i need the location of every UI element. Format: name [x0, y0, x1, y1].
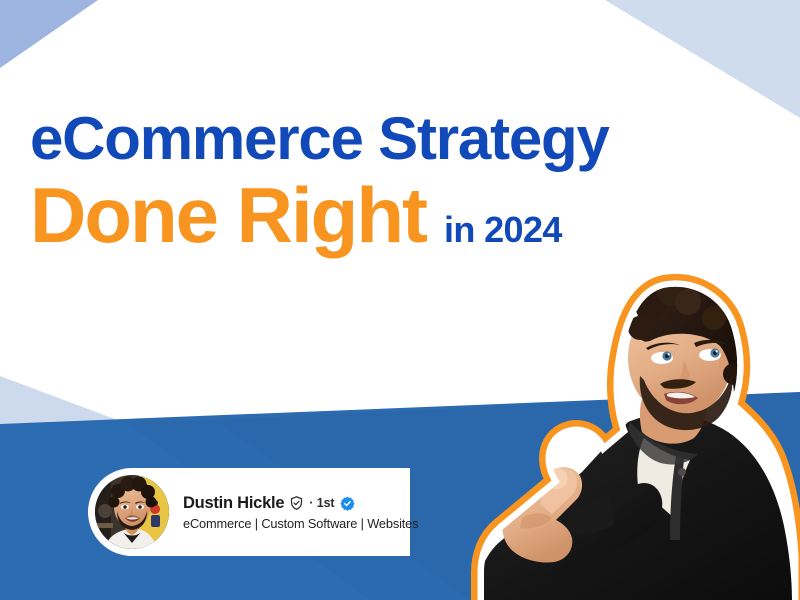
verified-badge-icon — [340, 496, 355, 511]
profile-card[interactable]: Dustin Hickle · 1st eCommerce | Custom S… — [88, 468, 410, 556]
shield-check-icon — [289, 495, 304, 511]
headline-line-1: eCommerce Strategy — [30, 108, 770, 170]
profile-name: Dustin Hickle — [183, 494, 284, 513]
avatar — [95, 475, 169, 549]
zip-pull — [678, 468, 686, 476]
profile-tagline: eCommerce | Custom Software | Websites — [183, 516, 410, 531]
person-cutout — [432, 272, 800, 600]
headline-year: in 2024 — [444, 212, 562, 254]
connection-degree: · 1st — [309, 496, 334, 510]
headline-line-2: Done Right in 2024 — [30, 176, 770, 254]
headline-line-2-main: Done Right — [30, 176, 426, 254]
profile-name-row: Dustin Hickle · 1st — [183, 494, 410, 513]
profile-text: Dustin Hickle · 1st eCommerce | Custom S… — [183, 494, 410, 531]
headline-block: eCommerce Strategy Done Right in 2024 — [30, 108, 770, 254]
poster-canvas: eCommerce Strategy Done Right in 2024 — [0, 0, 800, 600]
